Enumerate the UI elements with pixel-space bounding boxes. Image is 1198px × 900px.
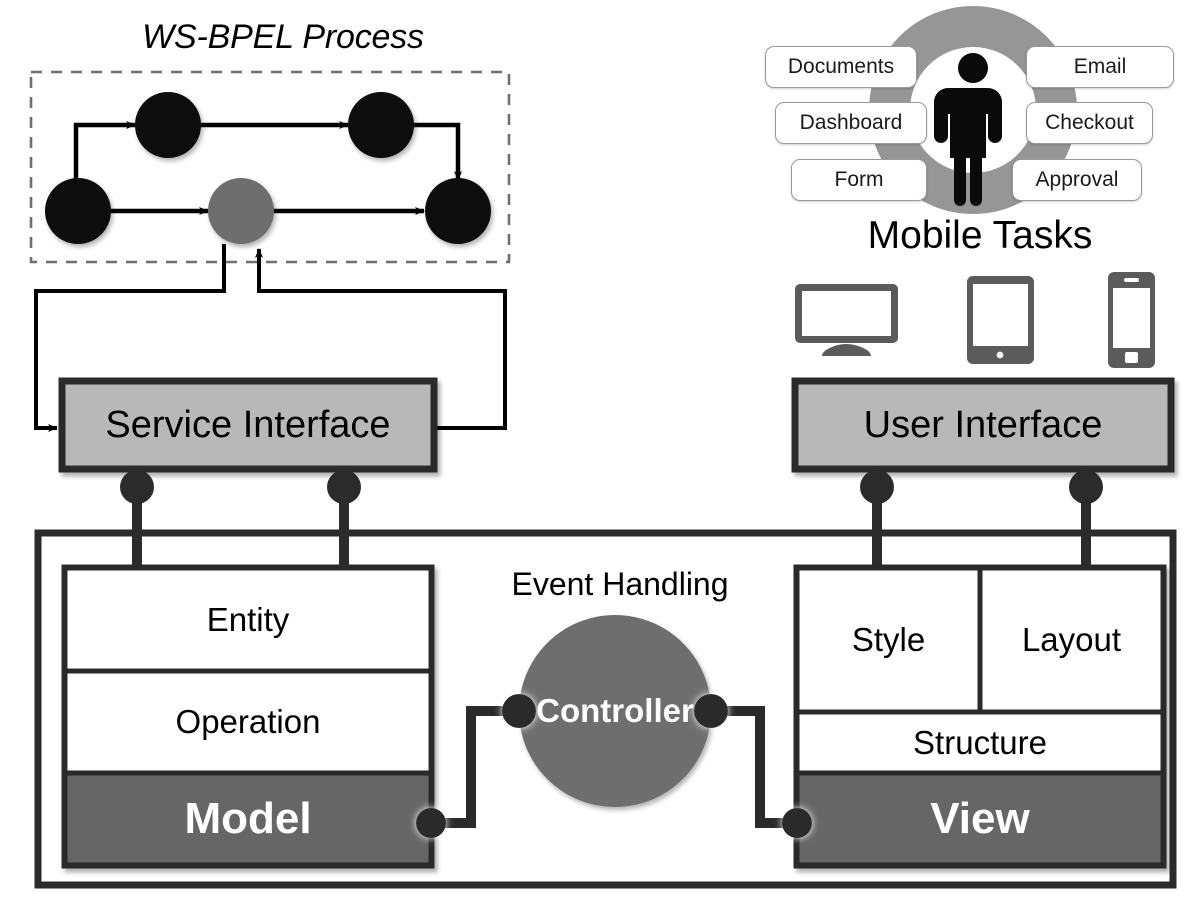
- task-chip-email[interactable]: Email: [1026, 46, 1174, 88]
- view-layout-cell: [980, 568, 1163, 712]
- architecture-diagram-svg: [0, 0, 1198, 900]
- model-wire-dot: [416, 808, 446, 838]
- model-entity-cell: [65, 568, 431, 671]
- view-wire-dot: [782, 808, 812, 838]
- bpel-title: WS-BPEL Process: [118, 18, 448, 57]
- interface-connectors: [137, 469, 1086, 572]
- user-interface-box: [795, 381, 1171, 469]
- bpel-node-start: [45, 178, 111, 244]
- ui-connector-dot-right: [1069, 470, 1103, 504]
- model-composite: [65, 568, 431, 865]
- controller-circle: [519, 615, 711, 807]
- controller-wire-dot-right: [694, 694, 728, 728]
- event-handling-label: Event Handling: [440, 566, 800, 603]
- diagram-canvas: WS-BPEL Process Documents Dashboard Form…: [0, 0, 1198, 900]
- controller-wire-dot-left: [502, 694, 536, 728]
- view-style-cell: [797, 568, 980, 712]
- bpel-node-top-right: [348, 92, 414, 158]
- ui-connector-dot-left: [860, 470, 894, 504]
- task-chip-checkout[interactable]: Checkout: [1026, 102, 1153, 144]
- task-chip-dashboard[interactable]: Dashboard: [775, 102, 927, 144]
- interface-connector-dots: [120, 470, 1103, 504]
- view-structure-cell: [797, 712, 1163, 773]
- task-chip-approval[interactable]: Approval: [1012, 159, 1142, 201]
- task-chip-form[interactable]: Form: [791, 159, 927, 201]
- bpel-node-middle: [208, 178, 274, 244]
- mobile-tasks-title: Mobile Tasks: [790, 214, 1170, 258]
- view-title-cell: [797, 773, 1163, 865]
- service-interface-box: [62, 381, 434, 469]
- model-title-cell: [65, 773, 431, 865]
- tablet-icon: [967, 276, 1034, 364]
- bpel-nodes: [45, 92, 491, 244]
- service-connector-dot-right: [327, 470, 361, 504]
- desktop-monitor-icon: [795, 284, 898, 356]
- bpel-node-top-left: [135, 92, 201, 158]
- view-composite: [797, 568, 1163, 865]
- service-connector-dot-left: [120, 470, 154, 504]
- model-operation-cell: [65, 671, 431, 773]
- smartphone-icon: [1108, 272, 1155, 368]
- bpel-node-end: [425, 178, 491, 244]
- task-chip-documents[interactable]: Documents: [765, 46, 917, 88]
